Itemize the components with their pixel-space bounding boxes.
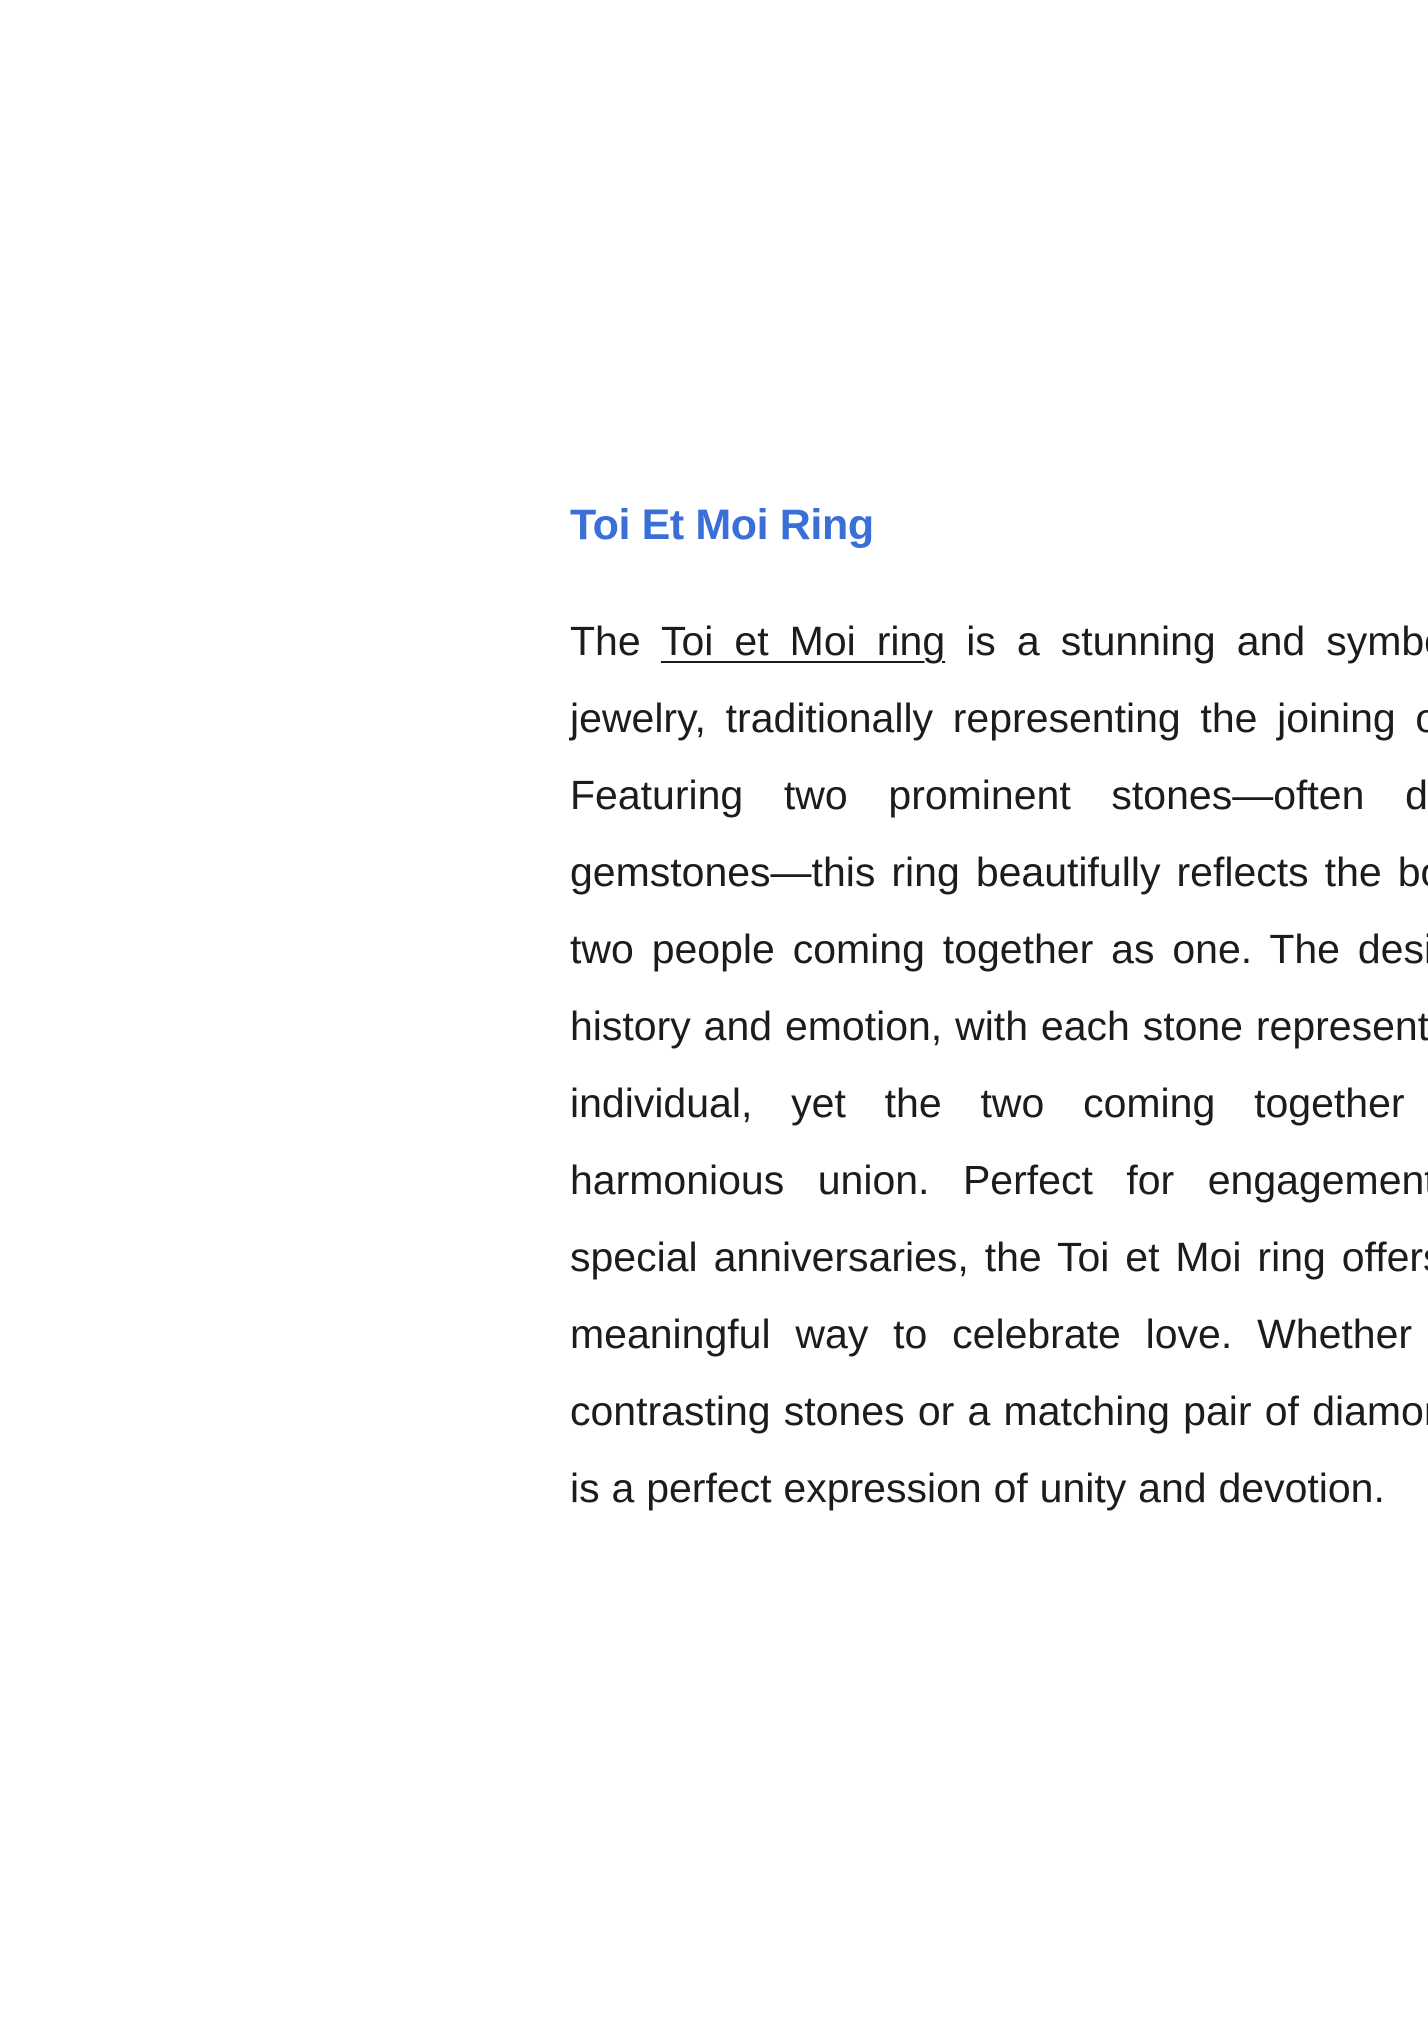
toi-et-moi-ring-link[interactable]: Toi et Moi ring xyxy=(661,618,945,664)
body-rest-text: is a stunning and symbolic piece of jewe… xyxy=(570,618,1428,1511)
page-title: Toi Et Moi Ring xyxy=(570,500,1428,551)
article-body-paragraph: The Toi et Moi ring is a stunning and sy… xyxy=(570,551,1428,1527)
body-lead-text: The xyxy=(570,618,661,664)
article-container: Toi Et Moi Ring The Toi et Moi ring is a… xyxy=(570,500,1428,1527)
